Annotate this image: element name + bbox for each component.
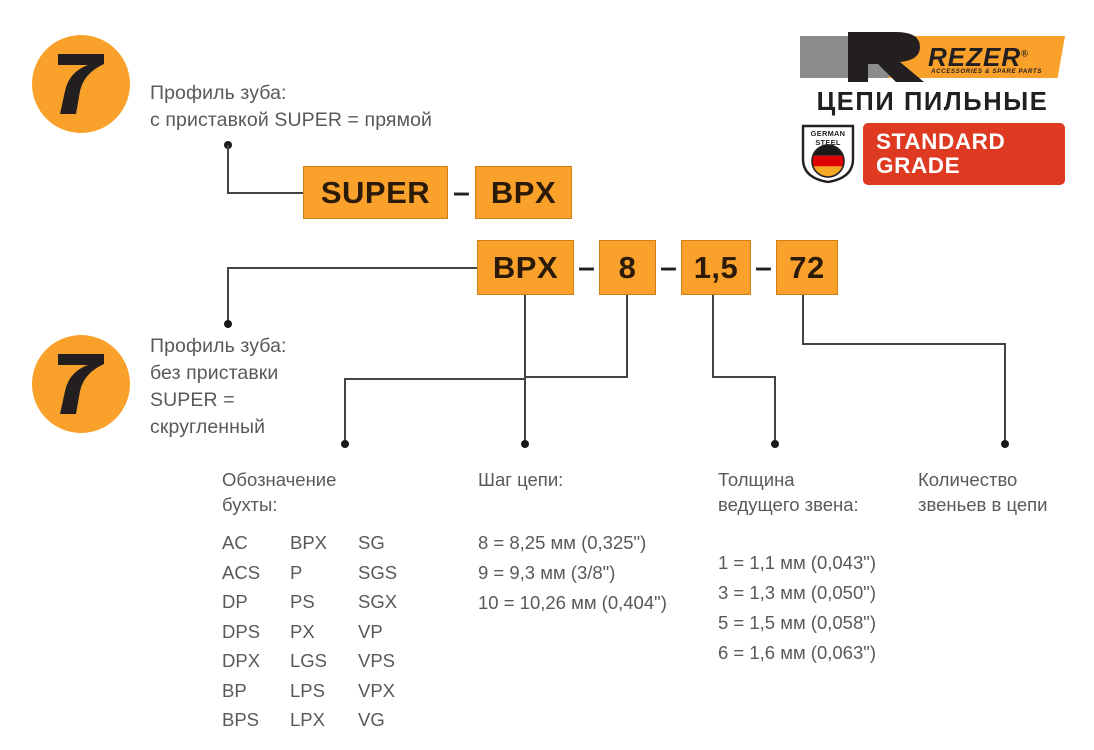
standard-grade-line1: STANDARD: [876, 130, 1065, 154]
connector-gauge-h: [712, 376, 776, 378]
list-item: VPX: [358, 676, 397, 706]
legend-pitch-title: Шаг цепи:: [478, 467, 708, 492]
german-steel-label: GERMANSTEEL: [800, 130, 856, 147]
connector-coil-v1: [524, 295, 526, 380]
connector-line-bpx-v: [227, 267, 229, 323]
legend-gauge-list: 1 = 1,1 мм (0,043") 3 = 1,3 мм (0,050") …: [718, 548, 876, 668]
code-box-pitch: 8: [599, 240, 656, 295]
list-item: 10 = 10,26 мм (0,404"): [478, 588, 667, 618]
separator-dash-2: –: [574, 240, 599, 295]
legend-pitch-list: 8 = 8,25 мм (0,325") 9 = 9,3 мм (3/8") 1…: [478, 528, 667, 618]
list-item: ACS: [222, 558, 260, 588]
list-item: LPX: [290, 705, 327, 735]
connector-pitch-h: [524, 376, 628, 378]
list-item: BPS: [222, 705, 260, 735]
code-box-bpx-top: BPX: [475, 166, 572, 219]
standard-grade-badge: STANDARD GRADE: [863, 123, 1065, 185]
list-item: VPS: [358, 646, 397, 676]
connector-line-bpx-h: [227, 267, 477, 269]
legend-coil-col-1: AC ACS DP DPS DPX BP BPS: [222, 528, 260, 735]
badge-circle-super: [32, 35, 130, 133]
connector-links-v2: [1004, 343, 1006, 443]
list-item: LGS: [290, 646, 327, 676]
connector-gauge-v1: [712, 295, 714, 378]
connector-line-super-v: [227, 145, 229, 194]
legend-gauge-title: Толщина ведущего звена:: [718, 467, 918, 517]
separator-dash-4: –: [751, 240, 776, 295]
registered-mark: ®: [1021, 48, 1029, 58]
separator-dash-1: –: [448, 166, 475, 219]
list-item: VP: [358, 617, 397, 647]
list-item: SGS: [358, 558, 397, 588]
list-item: 5 = 1,5 мм (0,058"): [718, 608, 876, 638]
list-item: DPS: [222, 617, 260, 647]
connector-dot-coil: [341, 440, 349, 448]
list-item: BPX: [290, 528, 327, 558]
connector-line-super-h: [227, 192, 303, 194]
logo-r-icon: [836, 30, 928, 84]
code-box-super: SUPER: [303, 166, 448, 219]
brand-block: REZER® ACCESSORIES & SPARE PARTS ЦЕПИ ПИ…: [800, 30, 1065, 185]
connector-gauge-v2: [774, 376, 776, 443]
badge-row: GERMANSTEEL STANDARD GRADE: [800, 123, 1065, 185]
infographic-canvas: REZER® ACCESSORIES & SPARE PARTS ЦЕПИ ПИ…: [0, 0, 1094, 750]
legend-coil-title: Обозначение бухты:: [222, 467, 442, 517]
numeral-seven-icon: [54, 51, 108, 117]
connector-dot-pitch: [521, 440, 529, 448]
connector-dot-links: [1001, 440, 1009, 448]
note-super-text: Профиль зуба: с приставкой SUPER = прямо…: [150, 80, 570, 134]
list-item: 9 = 9,3 мм (3/8"): [478, 558, 667, 588]
code-box-bpx: BPX: [477, 240, 574, 295]
product-title: ЦЕПИ ПИЛЬНЫЕ: [800, 88, 1065, 117]
separator-dash-3: –: [656, 240, 681, 295]
connector-pitch-v1: [626, 295, 628, 378]
rezer-logo: REZER® ACCESSORIES & SPARE PARTS: [800, 30, 1065, 84]
connector-coil-h: [344, 378, 526, 380]
list-item: PS: [290, 587, 327, 617]
list-item: VG: [358, 705, 397, 735]
list-item: 6 = 1,6 мм (0,063"): [718, 638, 876, 668]
badge-circle-nosuper: [32, 335, 130, 433]
german-steel-badge: GERMANSTEEL: [800, 123, 856, 185]
list-item: BP: [222, 676, 260, 706]
standard-grade-line2: GRADE: [876, 154, 1065, 178]
code-box-gauge: 1,5: [681, 240, 751, 295]
list-item: 1 = 1,1 мм (0,043"): [718, 548, 876, 578]
connector-links-h: [802, 343, 1006, 345]
logo-tagline: ACCESSORIES & SPARE PARTS: [931, 68, 1042, 75]
connector-dot-bpx: [224, 320, 232, 328]
connector-coil-v2: [344, 378, 346, 443]
connector-links-v1: [802, 295, 804, 345]
list-item: PX: [290, 617, 327, 647]
legend-links-title: Количество звеньев в цепи: [918, 467, 1094, 517]
connector-dot-gauge: [771, 440, 779, 448]
list-item: AC: [222, 528, 260, 558]
legend-coil-col-3: SG SGS SGX VP VPS VPX VG: [358, 528, 397, 735]
list-item: DPX: [222, 646, 260, 676]
list-item: LPS: [290, 676, 327, 706]
note-nosuper-text: Профиль зуба: без приставки SUPER = скру…: [150, 333, 350, 441]
list-item: 3 = 1,3 мм (0,050"): [718, 578, 876, 608]
list-item: DP: [222, 587, 260, 617]
list-item: SGX: [358, 587, 397, 617]
legend-coil-col-2: BPX P PS PX LGS LPS LPX: [290, 528, 327, 735]
list-item: 8 = 8,25 мм (0,325"): [478, 528, 667, 558]
list-item: P: [290, 558, 327, 588]
list-item: SG: [358, 528, 397, 558]
numeral-seven-icon: [54, 351, 108, 417]
code-box-links: 72: [776, 240, 838, 295]
connector-pitch-v2: [524, 376, 526, 443]
